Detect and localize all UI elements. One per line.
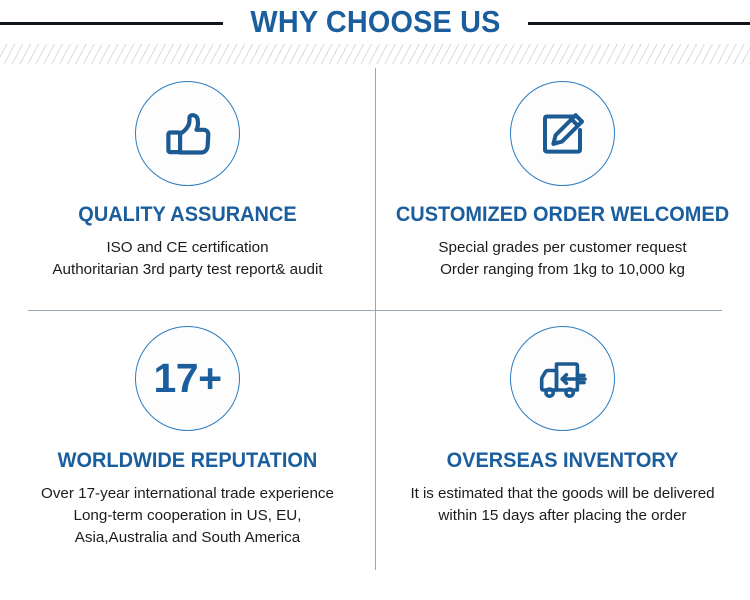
card-body-line: ISO and CE certification [18,237,357,259]
feature-card-quality-assurance: QUALITY ASSURANCE ISO and CE certificati… [0,64,375,310]
hatch-stripe-band [0,44,750,64]
card-body: It is estimated that the goods will be d… [383,483,742,527]
thumbs-up-icon [157,103,219,165]
feature-grid: QUALITY ASSURANCE ISO and CE certificati… [0,64,750,600]
card-body-line: Long-term cooperation in US, EU, [18,505,357,527]
card-body: Special grades per customer request Orde… [383,237,742,281]
card-title: WORLDWIDE REPUTATION [26,449,348,473]
card-body-line: Special grades per customer request [383,237,742,259]
card-title: CUSTOMIZED ORDER WELCOMED [392,203,733,227]
card-body-line: Authoritarian 3rd party test report& aud… [18,259,357,281]
card-body-line: Order ranging from 1kg to 10,000 kg [383,259,742,281]
years-badge: 17+ [153,358,221,399]
icon-circle [135,81,240,186]
card-body-line: It is estimated that the goods will be d… [383,483,742,505]
pencil-edit-icon [534,105,592,163]
why-choose-us-banner: WHY CHOOSE US QUALITY ASSURANCE ISO and … [0,0,750,600]
icon-circle: 17+ [135,326,240,431]
card-body: Over 17-year international trade experie… [18,483,357,549]
header-rule-right [528,22,750,25]
card-title: OVERSEAS INVENTORY [392,449,733,473]
card-body-line: within 15 days after placing the order [383,505,742,527]
icon-circle [510,326,615,431]
card-body: ISO and CE certification Authoritarian 3… [18,237,357,281]
icon-circle [510,81,615,186]
card-body-line: Over 17-year international trade experie… [18,483,357,505]
page-title: WHY CHOOSE US [250,5,500,39]
header-rule-left [0,22,223,25]
header: WHY CHOOSE US [0,0,750,44]
feature-card-overseas-inventory: OVERSEAS INVENTORY It is estimated that … [375,311,750,600]
feature-card-worldwide-reputation: 17+ WORLDWIDE REPUTATION Over 17-year in… [0,311,375,600]
card-body-line: Asia,Australia and South America [18,527,357,549]
delivery-truck-icon [532,352,594,406]
feature-card-customized-order: CUSTOMIZED ORDER WELCOMED Special grades… [375,64,750,310]
card-title: QUALITY ASSURANCE [26,203,348,227]
